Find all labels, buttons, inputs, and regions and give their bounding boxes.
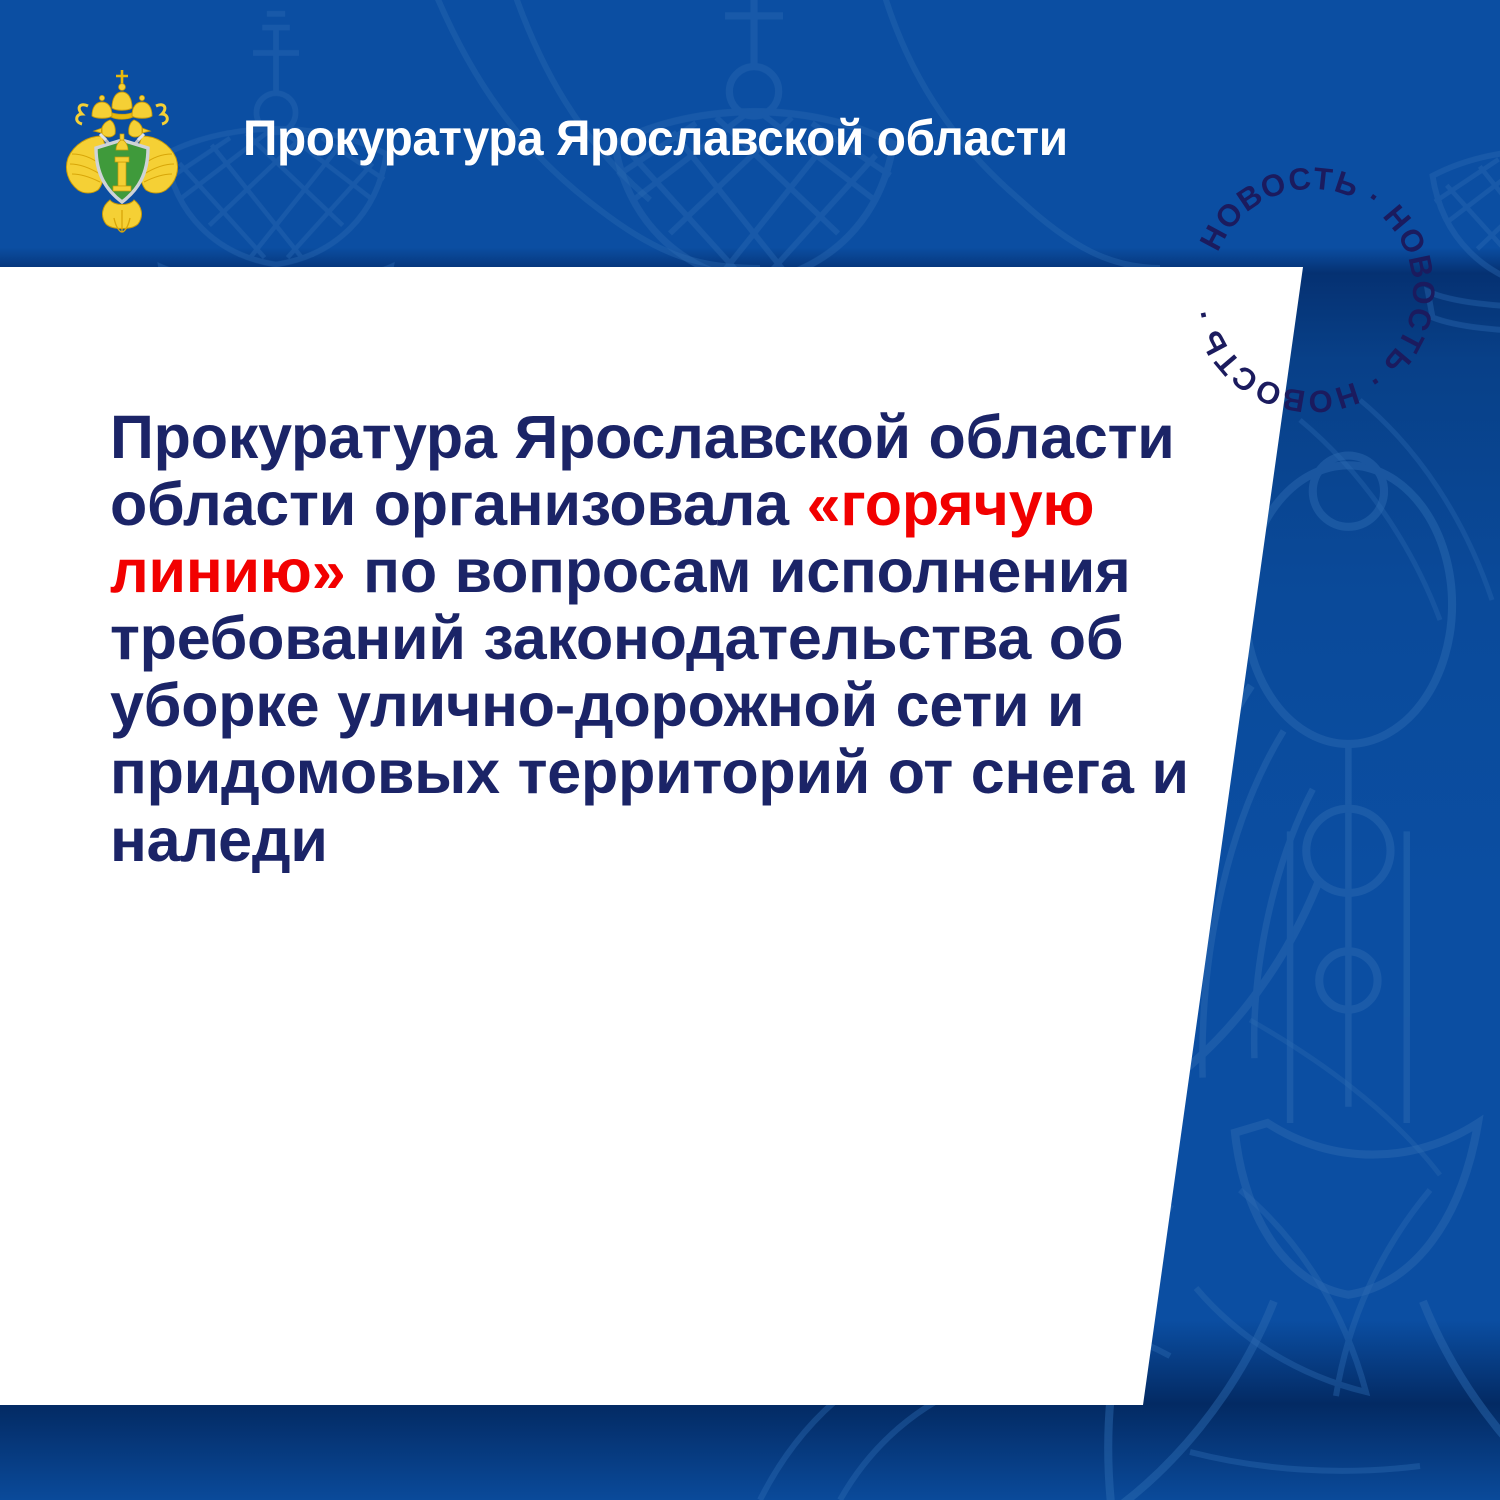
prosecutor-emblem-icon	[58, 62, 186, 237]
news-card-canvas: Прокуратура Ярославской области НОВОСТЬ …	[0, 0, 1500, 1500]
header-bar: Прокуратура Ярославской области	[0, 0, 1500, 267]
page-title: Прокуратура Ярославской области	[243, 109, 1068, 167]
news-body-text: Прокуратура Ярославской области области …	[110, 404, 1215, 874]
